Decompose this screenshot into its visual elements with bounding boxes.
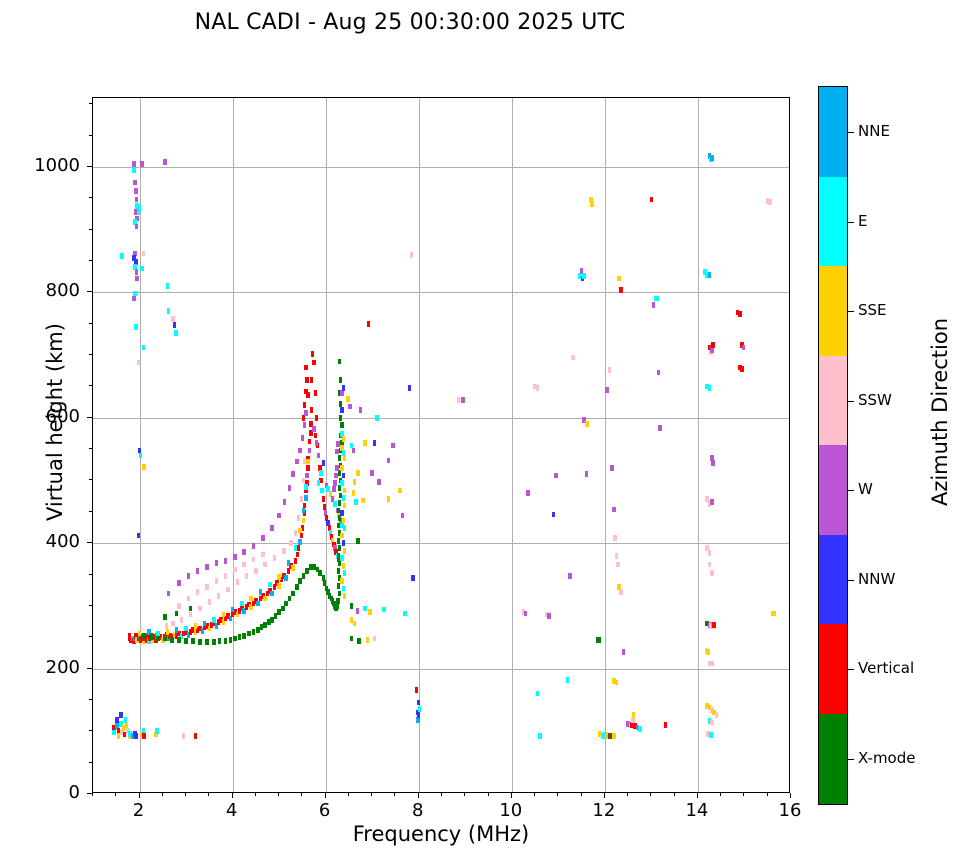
echo-point (373, 440, 376, 446)
echo-point (742, 345, 745, 351)
echo-point (254, 568, 257, 574)
echo-point (356, 470, 359, 476)
echo-point (377, 479, 380, 485)
echo-point (740, 366, 743, 372)
echo-point (137, 533, 140, 539)
echo-point (149, 634, 152, 640)
echo-point (711, 342, 714, 348)
echo-point (317, 453, 320, 459)
echo-point (302, 415, 305, 421)
echo-point (163, 636, 166, 642)
echo-point (189, 606, 192, 612)
x-tick-major (697, 793, 698, 798)
echo-point (142, 345, 145, 351)
echo-point (273, 555, 276, 561)
echo-point (401, 513, 404, 519)
colorbar-tick (848, 311, 854, 312)
echo-point (119, 712, 122, 718)
y-tick-minor (89, 103, 92, 104)
echo-point (343, 455, 346, 461)
echo-point (167, 591, 170, 597)
echo-point (245, 573, 248, 579)
echo-point (411, 575, 414, 581)
echo-point (287, 560, 290, 566)
echo-point (205, 584, 208, 590)
y-tick-minor (89, 605, 92, 606)
echo-point (283, 499, 286, 505)
x-tick-minor (650, 793, 651, 796)
echo-point (300, 496, 303, 502)
x-tick-minor (534, 793, 535, 796)
echo-point (184, 626, 187, 632)
x-tick-label: 2 (109, 800, 169, 821)
echo-point (301, 435, 304, 441)
colorbar-tick-label-ssw: SSW (858, 391, 892, 409)
echo-point (615, 553, 618, 559)
echo-point (142, 464, 145, 470)
echo-point (619, 589, 622, 595)
y-tick-minor (89, 229, 92, 230)
echo-point (317, 480, 320, 486)
echo-point (137, 360, 140, 366)
echo-point (608, 367, 611, 373)
echo-point (322, 496, 325, 502)
echo-point (352, 448, 355, 454)
echo-point (233, 567, 236, 573)
echo-point (296, 552, 299, 558)
echo-point (363, 606, 366, 612)
x-tick-minor (348, 793, 349, 796)
echo-point (194, 733, 197, 739)
echo-point (612, 733, 615, 739)
echo-point (277, 583, 280, 589)
echo-point (135, 269, 138, 275)
echo-point (198, 606, 201, 612)
echo-point (304, 495, 307, 501)
echo-point (163, 159, 166, 165)
echo-point (610, 465, 613, 471)
echo-point (343, 570, 346, 576)
echo-point (338, 359, 341, 365)
echo-point (291, 471, 294, 477)
echo-point (617, 276, 620, 282)
echo-point (582, 273, 585, 279)
y-tick-minor (89, 574, 92, 575)
echo-point (526, 490, 529, 496)
echo-point (539, 733, 542, 739)
echo-point (340, 422, 343, 428)
echo-point (177, 637, 180, 643)
echo-point (408, 385, 411, 391)
echo-point (706, 649, 709, 655)
echo-point (657, 370, 660, 376)
echo-point (173, 322, 176, 328)
echo-point (585, 471, 588, 477)
echo-point (242, 633, 245, 639)
echo-point (342, 540, 345, 546)
y-tick-minor (89, 730, 92, 731)
echo-point (352, 490, 355, 496)
colorbar-tick (848, 401, 854, 402)
echo-point (612, 507, 615, 513)
x-tick-minor (464, 793, 465, 796)
x-tick-label: 16 (760, 800, 820, 821)
echo-point (252, 629, 255, 635)
echo-point (249, 596, 252, 602)
x-tick-label: 4 (202, 800, 262, 821)
echo-point (135, 197, 138, 203)
echo-point (212, 617, 215, 623)
colorbar-tick-label-sse: SSE (858, 301, 887, 319)
echo-point (308, 439, 311, 445)
echo-point (710, 155, 713, 161)
echo-point (710, 570, 713, 576)
echo-point (708, 550, 711, 556)
echo-point (319, 470, 322, 476)
echo-point (310, 377, 313, 383)
echo-point (268, 582, 271, 588)
echo-point (340, 533, 343, 539)
echo-point (270, 591, 273, 597)
echo-point (342, 385, 345, 391)
echo-point (260, 624, 263, 630)
echo-point (356, 538, 359, 544)
echo-point (335, 465, 338, 471)
echo-point (222, 612, 225, 618)
echo-point (370, 470, 373, 476)
echo-point (302, 508, 305, 514)
echo-point (298, 448, 301, 454)
echo-point (180, 617, 183, 623)
y-tick-major (87, 668, 92, 669)
echo-point (175, 611, 178, 617)
echo-point (134, 324, 137, 330)
x-tick-label: 12 (574, 800, 634, 821)
echo-point (417, 712, 420, 718)
echo-point (340, 510, 343, 516)
x-tick-minor (441, 793, 442, 796)
echo-point (196, 568, 199, 574)
echo-point (340, 480, 343, 486)
y-tick-minor (89, 323, 92, 324)
echo-point (177, 580, 180, 586)
echo-point (277, 513, 280, 519)
colorbar-label: Azimuth Direction (928, 262, 952, 562)
y-tick-minor (89, 699, 92, 700)
echo-point (261, 552, 264, 558)
echo-point (238, 634, 241, 640)
y-tick-major (87, 166, 92, 167)
echo-point (367, 321, 370, 327)
echo-point (361, 498, 364, 504)
echo-point (163, 614, 166, 620)
echo-point (140, 266, 143, 272)
x-tick-major (139, 793, 140, 798)
y-tick-minor (89, 385, 92, 386)
echo-point (300, 533, 303, 539)
echo-point (120, 253, 123, 259)
echo-point (416, 717, 419, 723)
echo-point (167, 308, 170, 314)
echo-point (263, 622, 266, 628)
colorbar-tick (848, 132, 854, 133)
echo-point (605, 387, 608, 393)
echo-point (171, 621, 174, 627)
echo-point (320, 488, 323, 494)
echo-point (353, 479, 356, 485)
echo-point (288, 596, 291, 602)
colorbar-tick-label-e: E (858, 212, 867, 230)
echo-point (166, 283, 169, 289)
colorbar-segment-ssw (819, 356, 847, 446)
echo-point (332, 486, 335, 492)
echo-point (291, 565, 294, 571)
echo-point (348, 404, 351, 410)
y-tick-minor (89, 762, 92, 763)
echo-point (554, 473, 557, 479)
echo-point (294, 558, 297, 564)
echo-point (652, 302, 655, 308)
echo-point (773, 611, 776, 617)
echo-point (261, 535, 264, 541)
echo-point (664, 722, 667, 728)
echo-point (177, 603, 180, 609)
echo-point (277, 574, 280, 580)
y-tick-minor (89, 354, 92, 355)
x-tick-minor (581, 793, 582, 796)
echo-point (312, 360, 315, 366)
echo-point (294, 545, 297, 551)
echo-point (218, 638, 221, 644)
echo-point (256, 627, 259, 633)
echo-point (342, 518, 345, 524)
y-tick-major (87, 542, 92, 543)
echo-point (315, 440, 318, 446)
echo-point (270, 525, 273, 531)
y-tick-major (87, 793, 92, 794)
echo-point (323, 504, 326, 510)
x-tick-minor (371, 793, 372, 796)
echo-point (311, 351, 314, 357)
colorbar-tick (848, 669, 854, 670)
echo-point (337, 583, 340, 589)
echo-point (340, 578, 343, 584)
echo-point (338, 500, 341, 506)
echo-point (616, 562, 619, 568)
echo-point (342, 436, 345, 442)
echo-point (346, 396, 349, 402)
echo-point (274, 613, 277, 619)
echo-point (224, 638, 227, 644)
echo-point (297, 545, 300, 551)
page-title: NAL CADI - Aug 25 00:30:00 2025 UTC (0, 10, 820, 35)
echo-point (338, 545, 341, 551)
echo-point (303, 402, 306, 408)
echo-point (340, 407, 343, 413)
colorbar-tick-label-w: W (858, 480, 873, 498)
echo-point (252, 543, 255, 549)
y-tick-minor (89, 479, 92, 480)
echo-point (242, 549, 245, 555)
echo-point (304, 484, 307, 490)
echo-point (768, 199, 771, 205)
echo-point (391, 443, 394, 449)
colorbar-tick-label-nnw: NNW (858, 570, 895, 588)
echo-point (334, 606, 337, 612)
x-tick-minor (674, 793, 675, 796)
echo-point (715, 712, 718, 718)
echo-point (282, 548, 285, 554)
echo-point (398, 488, 401, 494)
echo-point (302, 518, 305, 524)
echo-point (304, 410, 307, 416)
echo-point (233, 636, 236, 642)
echo-point (132, 167, 135, 173)
echo-point (333, 501, 336, 507)
colorbar-tick (848, 580, 854, 581)
echo-point (226, 587, 229, 593)
echo-point (547, 613, 550, 619)
x-tick-label: 6 (295, 800, 355, 821)
echo-point (339, 415, 342, 421)
echo-point (170, 637, 173, 643)
echo-point (373, 636, 376, 642)
x-tick-major (604, 793, 605, 798)
echo-point (252, 557, 255, 563)
colorbar-tick (848, 490, 854, 491)
echo-point (343, 548, 346, 554)
echo-point (632, 712, 635, 718)
echo-point (305, 377, 308, 383)
echo-point (291, 591, 294, 597)
echo-point (263, 562, 266, 568)
x-tick-minor (92, 793, 93, 796)
echo-point (711, 460, 714, 466)
echo-point (340, 390, 343, 396)
colorbar (818, 86, 848, 805)
echo-point (387, 496, 390, 502)
echo-point (134, 733, 137, 739)
x-tick-minor (557, 793, 558, 796)
x-tick-major (418, 793, 419, 798)
echo-point (418, 706, 421, 712)
echo-point (281, 606, 284, 612)
echo-point (205, 564, 208, 570)
colorbar-segment-nnw (819, 535, 847, 625)
echo-point (342, 495, 345, 501)
echo-point (638, 726, 641, 732)
x-tick-minor (627, 793, 628, 796)
echo-point (322, 460, 325, 466)
echo-point (240, 601, 243, 607)
echo-point (314, 390, 317, 396)
echo-point (305, 473, 308, 479)
echo-point (314, 433, 317, 439)
echo-point (316, 567, 319, 573)
echo-point (340, 465, 343, 471)
echo-point (171, 316, 174, 322)
y-tick-minor (89, 636, 92, 637)
echo-point (298, 578, 301, 584)
echo-point (342, 473, 345, 479)
echo-point (184, 638, 187, 644)
echo-point (175, 627, 178, 633)
echo-point (217, 593, 220, 599)
echo-point (615, 680, 618, 686)
y-tick-minor (89, 260, 92, 261)
echo-point (387, 458, 390, 464)
echo-point (708, 385, 711, 391)
y-tick-label: 0 (10, 782, 80, 803)
echo-point (303, 459, 306, 465)
echo-point (710, 347, 713, 353)
echo-point (354, 499, 357, 505)
x-tick-label: 10 (481, 800, 541, 821)
colorbar-segment-sse (819, 266, 847, 356)
x-tick-major (790, 793, 791, 798)
colorbar-tick-label-vertical: Vertical (858, 659, 914, 677)
colorbar-segment-w (819, 445, 847, 535)
echo-point (631, 717, 634, 723)
echo-point (342, 586, 345, 592)
echo-point (337, 568, 340, 574)
echo-point (142, 251, 145, 257)
echo-point (357, 638, 360, 644)
echo-point (712, 622, 715, 628)
y-tick-major (87, 417, 92, 418)
echo-point (658, 425, 661, 431)
echo-point (187, 596, 190, 602)
echo-point (259, 589, 262, 595)
echo-point (124, 717, 127, 723)
echo-point (242, 562, 245, 568)
echo-point (309, 564, 312, 570)
echo-point (263, 596, 266, 602)
echo-point (289, 540, 292, 546)
ionogram-figure: NAL CADI - Aug 25 00:30:00 2025 UTC 2468… (0, 0, 958, 857)
echo-point (622, 649, 625, 655)
echo-point (566, 677, 569, 683)
echo-point (708, 272, 711, 278)
echo-point (710, 661, 713, 667)
echo-point (306, 459, 309, 465)
echo-point (709, 732, 712, 738)
echo-point (305, 568, 308, 574)
echo-point (224, 558, 227, 564)
echo-point (134, 188, 137, 194)
y-tick-label: 200 (10, 657, 80, 678)
echo-point (284, 601, 287, 607)
echo-point (205, 639, 208, 645)
echo-point (335, 449, 338, 455)
echo-point (224, 573, 227, 579)
echo-point (655, 296, 658, 302)
echo-point (338, 455, 341, 461)
echo-point (231, 607, 234, 613)
x-tick-minor (488, 793, 489, 796)
echo-point (303, 422, 306, 428)
colorbar-tick (848, 759, 854, 760)
echo-point (356, 608, 359, 614)
y-tick-minor (89, 135, 92, 136)
echo-point (306, 392, 309, 398)
x-tick-minor (115, 793, 116, 796)
echo-point (598, 637, 601, 643)
echo-point (382, 607, 385, 613)
echo-point (112, 730, 115, 736)
echo-point (182, 733, 185, 739)
echo-point (302, 573, 305, 579)
